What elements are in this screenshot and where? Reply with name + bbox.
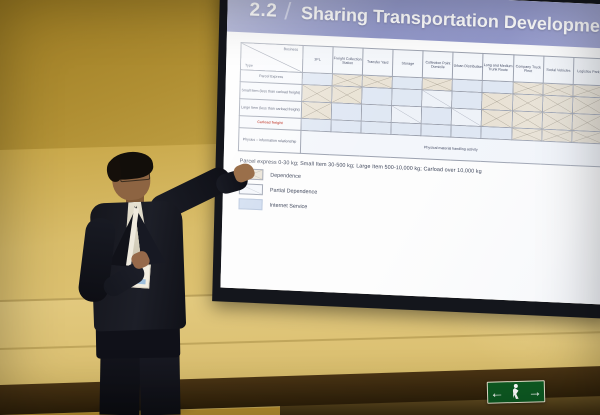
matrix-cell-3-5 [451,125,481,138]
matrix-cell-1-3 [392,88,423,106]
column-header-8: Social Vehicles [543,56,574,84]
dependence-matrix-table: Business Type 3PLFreight Collection Stat… [238,42,600,167]
matrix-cell-1-6 [482,92,513,110]
matrix-cell-1-0 [301,84,332,102]
table-corner-cell: Business Type [240,43,302,73]
matrix-cell-3-9 [572,130,600,143]
corner-label-type: Type [245,63,253,68]
slide-legend: Parcel express 0-30 kg; Small Item 30-50… [236,158,600,225]
matrix-cell-1-8 [542,95,573,113]
partial-dependence-diagonal-icon [452,109,482,126]
matrix-cell-2-3 [391,105,422,123]
matrix-cell-3-0 [301,118,331,131]
conference-room-photo: ← → 2.2 / Sharing Transportation Develop… [0,0,600,415]
projection-screen-frame: 2.2 / Sharing Transportation Development [212,0,600,319]
projection-screen-surface: 2.2 / Sharing Transportation Development [220,0,600,305]
column-header-2: Transfer Yard [362,48,393,76]
legend-label-dependence: Dependence [270,172,301,179]
column-header-9: Logistics Park [573,57,600,85]
matrix-cell-2-5 [451,108,482,126]
presentation-slide: 2.2 / Sharing Transportation Development [220,0,600,305]
physics-information-label: Physics – information relationship [238,128,300,154]
column-header-6: Long and Medium Trunk Route [483,53,514,81]
matrix-cell-2-4 [421,107,452,125]
column-header-4: Collection Point Domicile [423,51,454,79]
dependence-cross-icon [512,111,542,128]
dependence-cross-icon [302,85,332,102]
dependence-cross-icon [543,84,572,96]
dependence-cross-icon [572,114,600,131]
legend-label-partial-dependence: Partial Dependence [270,187,317,195]
exit-left-arrow-icon: ← [490,385,504,399]
legend-label-internet-service: Internet Service [269,202,307,210]
matrix-cell-1-5 [452,91,483,109]
dependence-cross-icon [573,97,600,114]
slide-header-separator: / [284,0,291,26]
column-header-0: 3PL [302,45,333,73]
dependence-cross-icon [332,86,362,103]
matrix-cell-3-4 [421,124,451,137]
column-header-5: Urban Distribution [453,52,484,80]
matrix-cell-2-2 [361,104,392,122]
slide-number: 2.2 [249,0,277,23]
matrix-cell-1-1 [331,86,362,104]
matrix-cell-1-2 [362,87,393,105]
dependence-cross-icon [512,128,541,140]
presenter-hair-side [106,159,123,183]
dependence-cross-icon [542,113,572,130]
column-header-3: Storage [392,49,423,77]
corner-label-business: Business [284,47,299,52]
dependence-cross-icon [513,94,543,111]
matrix-cell-2-9 [572,113,600,131]
partial-dependence-diagonal-icon [422,90,452,107]
dependence-cross-icon [482,110,512,127]
matrix-cell-3-7 [511,128,541,141]
dependence-cross-icon [483,93,513,110]
matrix-cell-1-4 [422,90,453,108]
partial-dependence-diagonal-icon [392,106,422,123]
emergency-exit-sign: ← → [487,380,546,404]
dependence-cross-icon [573,85,600,97]
dependence-cross-icon [332,74,361,86]
dependence-cross-icon [543,96,573,113]
matrix-cell-3-6 [481,126,511,139]
exit-right-arrow-icon: → [528,384,542,398]
matrix-cell-2-0 [301,101,332,119]
dependence-cross-icon [513,82,542,94]
matrix-cell-3-8 [541,129,571,142]
matrix-cell-3-2 [361,121,391,134]
matrix-cell-1-9 [572,96,600,114]
matrix-cell-2-7 [512,111,543,129]
dependence-cross-icon [363,76,392,88]
presenter-left-leg [99,352,140,415]
slide-body: Business Type 3PLFreight Collection Stat… [220,32,600,305]
presenter-right-leg [139,352,180,415]
dependence-cross-icon [301,102,331,119]
matrix-cell-1-7 [512,94,543,112]
dependence-cross-icon [542,130,571,142]
running-person-icon [510,384,521,400]
slide-title: Sharing Transportation Development [301,2,600,37]
column-header-7: Company Truck Fleet [513,55,544,83]
matrix-cell-2-6 [482,109,513,127]
dependence-cross-icon [572,131,600,143]
matrix-cell-3-3 [391,122,421,135]
matrix-cell-2-1 [331,103,362,121]
presenter-person [74,152,244,415]
column-header-1: Freight Collection Station [332,47,363,75]
matrix-cell-2-8 [542,112,573,130]
matrix-cell-3-1 [331,120,361,133]
dependence-cross-icon [423,78,452,90]
